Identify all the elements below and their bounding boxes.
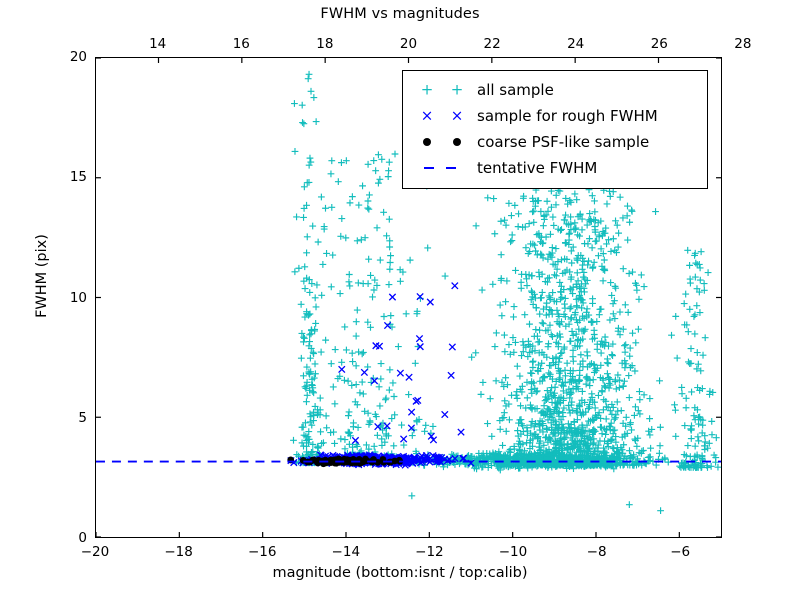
figure-canvas: FWHM vs magnitudes 1416182022242628 −20−…	[0, 0, 800, 600]
legend-box: + + all sample × × sample for rough FWHM…	[402, 70, 708, 189]
legend-label-rough-fwhm: sample for rough FWHM	[473, 107, 658, 125]
tick-top-2: 18	[316, 36, 333, 52]
y-axis-label: FWHM (pix)	[34, 66, 50, 486]
tick-top-1: 16	[233, 36, 250, 52]
legend-label-tentative-fwhm: tentative FWHM	[473, 159, 597, 177]
tick-bottom-3: −14	[332, 544, 361, 560]
legend-item-tentative-fwhm: tentative FWHM	[411, 155, 699, 181]
tick-left-3: 15	[70, 169, 87, 185]
tick-bottom-7: −6	[670, 544, 690, 560]
legend-item-psf-like: coarse PSF-like sample	[411, 129, 699, 155]
page-title: FWHM vs magnitudes	[0, 6, 800, 22]
tick-top-7: 28	[734, 36, 751, 52]
x-axis-label: magnitude (bottom:isnt / top:calib)	[0, 565, 800, 581]
tick-top-0: 14	[149, 36, 166, 52]
dashed-line-icon	[411, 157, 473, 179]
tick-bottom-5: −10	[499, 544, 528, 560]
tick-left-0: 0	[78, 530, 87, 546]
tick-top-3: 20	[400, 36, 417, 52]
plus-icon: + +	[411, 79, 473, 101]
tick-bottom-2: −16	[248, 544, 277, 560]
cross-icon: × ×	[411, 105, 473, 127]
legend-item-rough-fwhm: × × sample for rough FWHM	[411, 103, 699, 129]
tick-top-4: 22	[484, 36, 501, 52]
tick-bottom-6: −8	[587, 544, 607, 560]
tick-bottom-1: −18	[164, 544, 193, 560]
legend-label-psf-like: coarse PSF-like sample	[473, 133, 649, 151]
tick-left-4: 20	[70, 49, 87, 65]
legend-label-all-sample: all sample	[473, 81, 554, 99]
tick-bottom-4: −12	[415, 544, 444, 560]
tick-top-6: 26	[651, 36, 668, 52]
tick-left-2: 10	[70, 290, 87, 306]
dot-icon	[411, 131, 473, 153]
tick-left-1: 5	[78, 410, 87, 426]
tick-top-5: 24	[567, 36, 584, 52]
tick-bottom-0: −20	[81, 544, 110, 560]
legend-item-all-sample: + + all sample	[411, 77, 699, 103]
